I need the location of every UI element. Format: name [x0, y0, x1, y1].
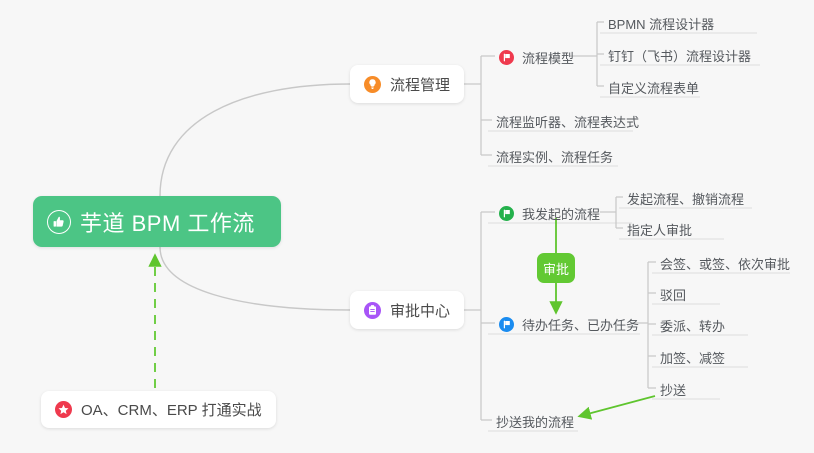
thumbs-up-icon — [47, 210, 71, 234]
lightbulb-pin-icon — [364, 76, 381, 93]
integration-note-card[interactable]: OA、CRM、ERP 打通实战 — [41, 391, 276, 428]
leaf-cc[interactable]: 抄送 — [654, 377, 692, 404]
leaf-bpmn-designer[interactable]: BPMN 流程设计器 — [602, 11, 720, 38]
subnode-my-initiated[interactable]: 我发起的流程 — [493, 201, 606, 228]
leaf-label: 会签、或签、依次审批 — [660, 254, 790, 273]
leaf-label: 抄送我的流程 — [496, 412, 574, 431]
leaf-start-cancel-process[interactable]: 发起流程、撤销流程 — [621, 186, 750, 213]
root-node[interactable]: 芋道 BPM 工作流 — [33, 196, 281, 247]
leaf-reject[interactable]: 驳回 — [654, 282, 692, 309]
integration-note-label: OA、CRM、ERP 打通实战 — [81, 399, 262, 420]
branch-node-approval-center[interactable]: 审批中心 — [350, 291, 464, 329]
leaf-label: 流程监听器、流程表达式 — [496, 112, 639, 131]
clipboard-icon — [364, 302, 381, 319]
root-label: 芋道 BPM 工作流 — [80, 206, 255, 238]
leaf-label: 自定义流程表单 — [608, 78, 699, 97]
leaf-label: 发起流程、撤销流程 — [627, 189, 744, 208]
flag-icon — [499, 50, 514, 65]
subnode-todo-done-tasks[interactable]: 待办任务、已办任务 — [493, 312, 645, 339]
approval-badge-label: 审批 — [543, 259, 569, 278]
branch-node-process-management[interactable]: 流程管理 — [350, 65, 464, 103]
leaf-delegate-transfer[interactable]: 委派、转办 — [654, 313, 731, 340]
subnode-label: 我发起的流程 — [522, 204, 600, 223]
leaf-label: 驳回 — [660, 285, 686, 304]
subnode-process-model[interactable]: 流程模型 — [493, 45, 580, 72]
leaf-label: 指定人审批 — [627, 220, 692, 239]
leaf-label: 抄送 — [660, 380, 686, 399]
flag-icon — [499, 206, 514, 221]
branch-label: 审批中心 — [390, 300, 450, 321]
leaf-custom-process-form[interactable]: 自定义流程表单 — [602, 75, 705, 102]
leaf-assigned-approval[interactable]: 指定人审批 — [621, 217, 698, 244]
leaf-instance-task[interactable]: 流程实例、流程任务 — [490, 144, 619, 171]
subnode-label: 待办任务、已办任务 — [522, 315, 639, 334]
leaf-listener-expression[interactable]: 流程监听器、流程表达式 — [490, 109, 645, 136]
leaf-dingtalk-feishu-designer[interactable]: 钉钉（飞书）流程设计器 — [602, 43, 757, 70]
leaf-label: 流程实例、流程任务 — [496, 147, 613, 166]
star-icon — [55, 401, 72, 418]
leaf-label: 钉钉（飞书）流程设计器 — [608, 46, 751, 65]
leaf-multi-approval[interactable]: 会签、或签、依次审批 — [654, 251, 796, 278]
leaf-cc-my-process[interactable]: 抄送我的流程 — [490, 409, 580, 436]
branch-label: 流程管理 — [390, 74, 450, 95]
leaf-label: 委派、转办 — [660, 316, 725, 335]
approval-badge[interactable]: 审批 — [537, 253, 575, 283]
subnode-label: 流程模型 — [522, 48, 574, 67]
mindmap-canvas: 芋道 BPM 工作流 流程管理 流程模型 BPMN 流程设计器 钉钉（飞书）流程 — [0, 0, 814, 453]
flag-icon — [499, 317, 514, 332]
leaf-label: 加签、减签 — [660, 348, 725, 367]
leaf-label: BPMN 流程设计器 — [608, 14, 714, 33]
leaf-add-remove-sign[interactable]: 加签、减签 — [654, 345, 731, 372]
